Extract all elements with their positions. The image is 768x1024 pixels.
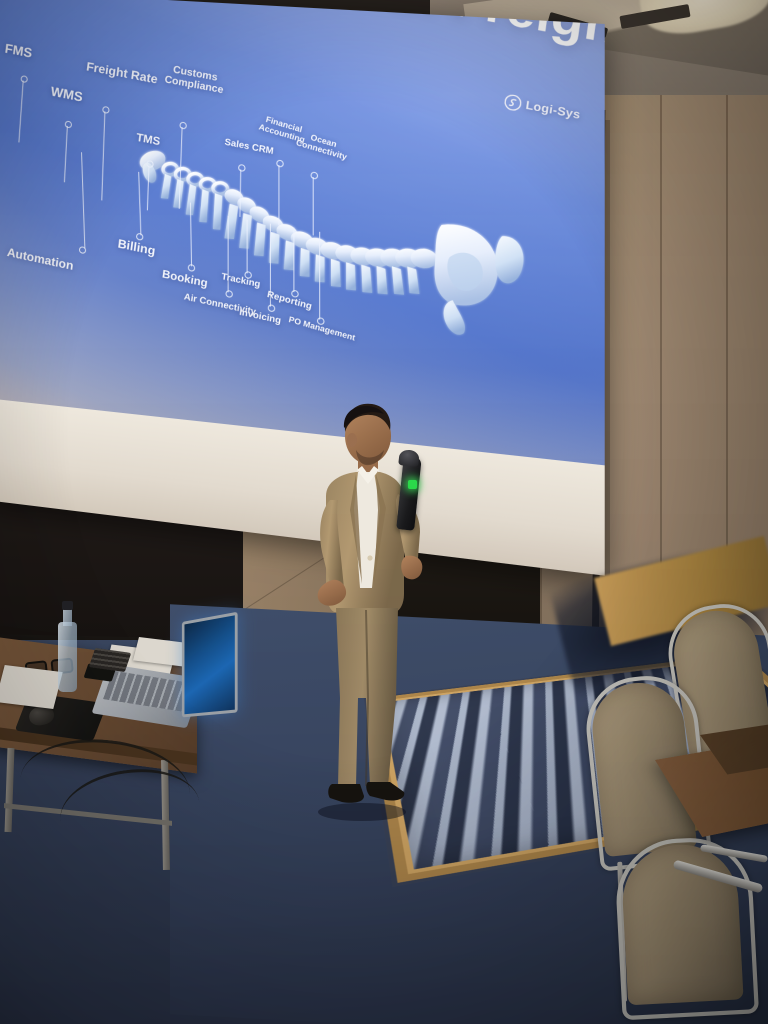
leader-line	[313, 177, 314, 236]
label-freight-rate: Freight Rate	[86, 60, 159, 86]
leader-dot	[188, 264, 195, 272]
logo-text: Logi-Sys	[525, 99, 581, 122]
laptop-screen[interactable]	[182, 612, 238, 718]
leader-line	[147, 165, 150, 210]
bottle-cap	[62, 601, 73, 610]
leader-line	[179, 127, 183, 209]
label-ocean-connectivity: Ocean Connectivity	[295, 130, 350, 162]
leader-line	[81, 152, 85, 248]
leader-line	[319, 232, 320, 320]
leader-line	[247, 220, 248, 274]
leader-line	[138, 172, 141, 235]
label-tms: TMS	[135, 133, 160, 150]
microphone-led-indicator	[408, 480, 417, 489]
leader-line	[64, 126, 68, 182]
slide-content: Backbone of Freight Forwarding Logi-Sys	[0, 0, 605, 465]
paper-sheet	[0, 665, 63, 709]
leader-dot	[268, 304, 275, 312]
projected-slide: Backbone of Freight Forwarding Logi-Sys	[0, 0, 605, 465]
leader-dot	[311, 172, 319, 180]
bottle-neck	[63, 608, 72, 626]
swirl-s-icon	[503, 93, 522, 112]
leader-line	[278, 165, 279, 225]
leader-dot	[79, 246, 86, 254]
label-customs-compliance: Customs Compliance	[164, 64, 225, 97]
photograph-scene: Backbone of Freight Forwarding Logi-Sys	[0, 0, 768, 1024]
leader-line	[239, 169, 241, 217]
label-fms: FMS	[4, 42, 33, 61]
leader-dot	[276, 160, 283, 168]
leader-line	[18, 80, 23, 142]
label-sales-crm: Sales CRM	[224, 138, 274, 157]
leader-dot	[225, 290, 232, 298]
label-invoicing: Invoicing	[239, 307, 282, 326]
logo: Logi-Sys	[503, 93, 581, 123]
leader-line	[293, 228, 294, 293]
water-bottle	[58, 622, 77, 692]
leader-line	[101, 111, 105, 200]
label-automation: Automation	[6, 246, 74, 273]
label-booking: Booking	[161, 269, 208, 291]
leader-line	[190, 203, 192, 267]
label-wms: WMS	[50, 85, 84, 105]
label-billing: Billing	[117, 237, 156, 258]
